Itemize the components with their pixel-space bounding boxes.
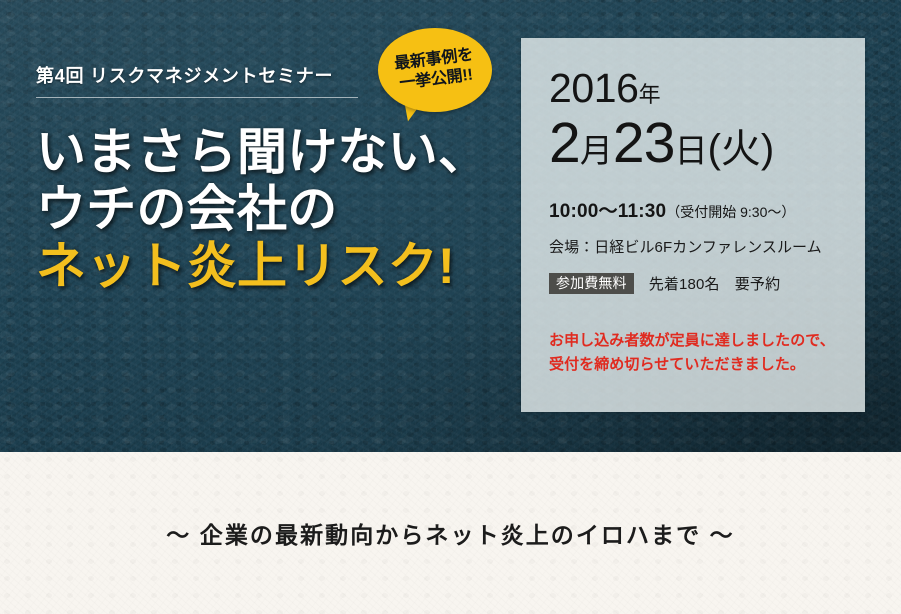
headline: いまさら聞けない、 ウチの会社の ネット炎上リスク! <box>36 124 496 295</box>
headline-line-3-accent: ネット炎上リスク! <box>36 238 496 295</box>
bottom-section: 〜 企業の最新動向からネット炎上のイロハまで 〜 <box>0 452 901 614</box>
event-day-number: 23 <box>613 111 675 175</box>
soldout-line-1: お申し込み者数が定員に達しましたので、 <box>549 329 865 353</box>
event-reception-note: （受付開始 9:30〜） <box>666 204 795 220</box>
event-fee-row: 参加費無料 先着180名 要予約 <box>549 273 865 294</box>
event-day-unit: 日 <box>675 132 708 169</box>
event-year: 2016年 <box>549 68 865 109</box>
fee-badge: 参加費無料 <box>549 273 634 294</box>
seminar-banner: 第4回 リスクマネジメントセミナー いまさら聞けない、 ウチの会社の ネット炎上… <box>0 0 901 614</box>
event-month-unit: 月 <box>580 132 613 169</box>
event-year-number: 2016 <box>549 65 639 111</box>
headline-line-2: ウチの会社の <box>36 181 496 238</box>
speech-bubble-badge: 最新事例を 一挙公開!! <box>378 28 492 120</box>
event-weekday: (火) <box>708 127 775 171</box>
event-month-number: 2 <box>549 111 580 175</box>
tagline: 〜 企業の最新動向からネット炎上のイロハまで 〜 <box>166 516 734 550</box>
speech-bubble-text: 最新事例を 一挙公開!! <box>373 21 496 118</box>
hero-section: 第4回 リスクマネジメントセミナー いまさら聞けない、 ウチの会社の ネット炎上… <box>0 0 901 452</box>
capacity-note: 先着180名 要予約 <box>649 273 781 294</box>
event-venue: 会場：日経ビル6Fカンファレンスルーム <box>549 236 865 257</box>
event-info-panel: 2016年 2月23日(火) 10:00〜11:30（受付開始 9:30〜） 会… <box>521 38 865 412</box>
headline-line-1: いまさら聞けない、 <box>36 124 496 181</box>
event-time-row: 10:00〜11:30（受付開始 9:30〜） <box>549 196 865 223</box>
soldout-line-2: 受付を締め切らせていただきました。 <box>549 353 865 377</box>
event-year-unit: 年 <box>639 82 661 107</box>
kicker-divider <box>36 97 358 98</box>
event-date: 2月23日(火) <box>549 115 865 172</box>
event-time: 10:00〜11:30 <box>549 201 666 222</box>
soldout-notice: お申し込み者数が定員に達しましたので、 受付を締め切らせていただきました。 <box>549 329 865 378</box>
